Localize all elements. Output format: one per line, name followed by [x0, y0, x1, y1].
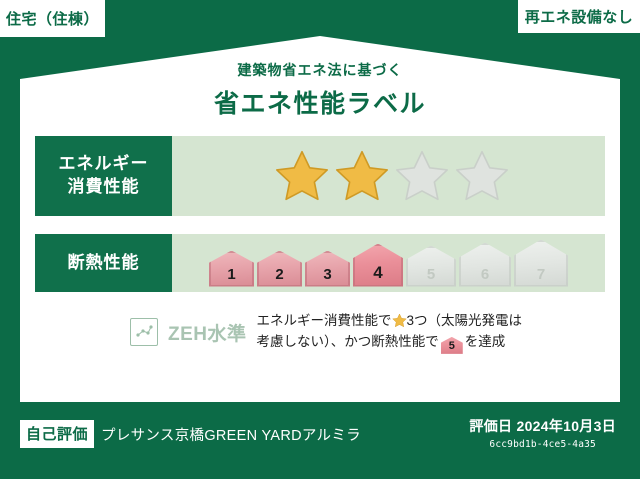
evaluation-id: 6cc9bd1b-4ce5-4a35: [469, 439, 616, 450]
footer-left: 自己評価 プレサンス京橋GREEN YARDアルミラ: [20, 420, 361, 448]
energy-label-line2: 消費性能: [68, 176, 140, 199]
footer-right: 評価日 2024年10月3日 6cc9bd1b-4ce5-4a35: [469, 416, 616, 450]
zeh-description: エネルギー消費性能で3つ（太陽光発電は考慮しない）、かつ断熱性能で5を達成: [257, 311, 527, 354]
evaluation-date: 評価日 2024年10月3日: [469, 416, 616, 436]
insulation-chip-4: 4: [353, 244, 403, 287]
zeh-desc-part3: を達成: [465, 334, 506, 349]
chips-container: 1234567: [209, 240, 568, 287]
property-name: プレサンス京橋GREEN YARDアルミラ: [101, 424, 361, 445]
energy-label-line1: エネルギー: [59, 153, 149, 176]
page-title: 省エネ性能ラベル: [20, 84, 620, 120]
stars-container: [268, 148, 510, 204]
insulation-chip-3: 3: [305, 251, 350, 287]
insulation-chip-6: 6: [459, 243, 511, 287]
inline-insulation-chip: 5: [441, 337, 463, 354]
insulation-chip-5: 5: [406, 246, 456, 287]
renewable-energy-badge: 再エネ設備なし: [518, 0, 640, 33]
insulation-performance-row: 断熱性能 1234567: [35, 234, 605, 292]
label-content: 建築物省エネ法に基づく 省エネ性能ラベル エネルギー 消費性能 断熱性能 123…: [20, 36, 620, 402]
insulation-label: 断熱性能: [68, 252, 140, 275]
title-subtitle: 建築物省エネ法に基づく: [20, 60, 620, 80]
self-evaluation-badge: 自己評価: [20, 420, 94, 448]
insulation-chip-7: 7: [514, 240, 568, 287]
energy-performance-row: エネルギー 消費性能: [35, 136, 605, 216]
star-icon-empty: [454, 148, 510, 204]
zeh-chart-icon: [130, 318, 158, 346]
label-footer: 自己評価 プレサンス京橋GREEN YARDアルミラ 評価日 2024年10月3…: [0, 402, 640, 479]
insulation-chip-2: 2: [257, 251, 302, 287]
energy-performance-label: 住宅（住棟） 再エネ設備なし 建築物省エネ法に基づく 省エネ性能ラベル エネルギ…: [0, 0, 640, 479]
star-icon-filled: [274, 148, 330, 204]
zeh-standard-title: ZEH水準: [168, 319, 247, 346]
energy-rating-stars: [172, 136, 605, 216]
star-icon-empty: [394, 148, 450, 204]
star-icon-filled: [334, 148, 390, 204]
insulation-rating-chips: 1234567: [172, 234, 605, 292]
building-type-badge: 住宅（住棟）: [0, 0, 105, 37]
title-block: 建築物省エネ法に基づく 省エネ性能ラベル: [20, 60, 620, 120]
insulation-chip-1: 1: [209, 251, 254, 287]
star-icon: [392, 313, 407, 328]
insulation-performance-label-cell: 断熱性能: [35, 234, 172, 292]
zeh-desc-part1: エネルギー消費性能で: [257, 313, 392, 328]
energy-performance-label-cell: エネルギー 消費性能: [35, 136, 172, 216]
zeh-standard-note: ZEH水準 エネルギー消費性能で3つ（太陽光発電は考慮しない）、かつ断熱性能で5…: [130, 311, 527, 354]
